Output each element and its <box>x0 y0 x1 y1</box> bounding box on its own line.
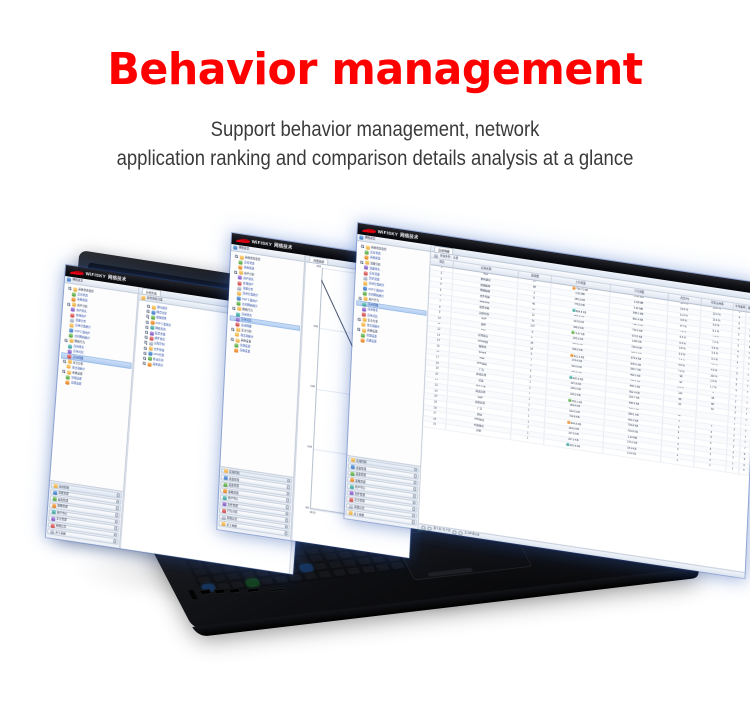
page-icon <box>71 308 75 313</box>
window3-tree[interactable]: 系统状态监控实时状态系统资源流量分析流量排名实时流量历史流量应用分类统计P2P下… <box>347 241 430 466</box>
keyboard-key <box>222 565 236 572</box>
page-icon <box>68 349 72 354</box>
accordion-expand-button[interactable] <box>411 520 415 524</box>
overview-icon <box>233 245 237 250</box>
folder-icon <box>365 260 369 265</box>
tree-expander-icon[interactable] <box>361 245 364 248</box>
app-type-icon <box>567 421 570 424</box>
keyboard-key <box>328 561 342 568</box>
folder-icon <box>147 362 151 367</box>
tree-expander-icon[interactable] <box>143 351 146 354</box>
accordion-expand-button[interactable] <box>116 493 120 497</box>
keyboard-key <box>212 575 226 582</box>
folder-icon <box>150 326 154 331</box>
tree-expander-icon[interactable] <box>147 305 150 308</box>
sd-card-slot <box>268 587 286 592</box>
page-icon <box>364 271 368 276</box>
keyboard-key <box>324 553 338 560</box>
next-page-button[interactable] <box>452 530 456 535</box>
accordion-expand-button[interactable] <box>284 531 288 535</box>
folder-icon <box>73 287 77 292</box>
wifisky-logo-icon <box>70 269 83 275</box>
page-icon <box>71 297 75 302</box>
window3-content: 应用明细 查询条件：全部 排名应用名称连接数上行流量下行流量占比(%)带宽占用率… <box>418 245 750 578</box>
app-type-icon <box>566 443 569 446</box>
window3-accordion[interactable]: 应用控制流量管理设备管理策略管理用户中心文件管理安全管理系统日志关于系统 <box>344 455 420 529</box>
accordion-expand-button[interactable] <box>286 499 290 503</box>
folder-icon <box>148 351 152 356</box>
window1-brand: WiFiSKY <box>85 271 106 279</box>
app-type-icon <box>572 286 575 289</box>
tree-expander-icon[interactable] <box>231 327 234 330</box>
page-icon <box>67 354 71 359</box>
tree-expander-icon[interactable] <box>357 328 360 331</box>
page-icon <box>361 338 365 343</box>
folder-icon <box>149 336 153 341</box>
grid-icon <box>351 458 355 463</box>
tree-expander-icon[interactable] <box>63 359 66 362</box>
tree-expander-icon[interactable] <box>144 336 147 339</box>
folder-icon <box>236 328 240 333</box>
application-detail-table-wrap[interactable]: 排名应用名称连接数上行流量下行流量占比(%)带宽占用率平均速率峰值速率 1网页2… <box>419 258 750 572</box>
window3-nav-header-label: 网络总览 <box>365 237 376 242</box>
folder-icon <box>141 295 145 300</box>
keyboard-key <box>376 564 390 571</box>
folder-icon <box>362 328 366 333</box>
tree-expander-icon[interactable] <box>235 255 238 258</box>
page-icon <box>69 333 73 338</box>
page-icon <box>65 380 69 385</box>
accordion-expand-button[interactable] <box>413 474 417 478</box>
tree-expander-icon[interactable] <box>234 270 237 273</box>
file-icon <box>222 502 226 507</box>
accordion-expand-button[interactable] <box>287 479 291 483</box>
keyboard-key <box>313 563 327 570</box>
log-icon <box>50 523 54 528</box>
window2-brand-suffix: 网络技术 <box>274 242 293 250</box>
folder-icon <box>150 315 154 320</box>
table-cell: 1 <box>726 466 739 474</box>
folder-icon <box>151 310 155 315</box>
app-type-icon <box>568 398 571 401</box>
accordion-expand-button[interactable] <box>114 526 118 530</box>
page-icon <box>362 307 366 312</box>
last-page-button[interactable] <box>458 531 462 536</box>
filter-icon[interactable] <box>434 253 438 258</box>
accordion-expand-button[interactable] <box>284 525 288 529</box>
tree-expander-icon[interactable] <box>67 302 70 305</box>
window3-tree-item-label: 高级设置 <box>366 339 377 344</box>
page-icon <box>238 276 242 281</box>
page-title: Behavior management <box>11 48 739 92</box>
first-page-button[interactable] <box>421 525 425 530</box>
device-icon <box>223 482 227 487</box>
app-type-icon <box>569 376 572 379</box>
grid-icon <box>53 484 57 489</box>
window3-brand-suffix: 网络技术 <box>400 232 419 240</box>
folder-icon <box>148 346 152 351</box>
user-icon <box>222 495 226 500</box>
window3-brand: WiFiSKY <box>378 229 399 237</box>
window3-body: 网络总览 系统状态监控实时状态系统资源流量分析流量排名实时流量历史流量应用分类统… <box>344 234 750 578</box>
accordion-expand-button[interactable] <box>413 487 417 491</box>
folder-icon <box>150 320 154 325</box>
policy-icon <box>52 503 56 508</box>
page-icon <box>239 260 243 265</box>
accordion-expand-button[interactable] <box>114 520 118 524</box>
wifisky-logo-icon <box>237 237 250 243</box>
tree-expander-icon[interactable] <box>64 339 67 342</box>
chart-icon <box>53 490 57 495</box>
page-icon <box>236 312 240 317</box>
keyboard-key <box>189 561 203 568</box>
folder-icon <box>362 317 366 322</box>
hero-stage: WiFiSKY 网络技术 网络总览 系统状态监控实时状态系统资源用户分析用户排名… <box>0 225 750 705</box>
chart-icon <box>350 465 354 470</box>
keyboard-key <box>193 569 207 576</box>
chart-x-tick-label: 08:00 <box>310 512 316 516</box>
user-icon <box>51 510 55 515</box>
tree-expander-icon[interactable] <box>232 307 235 310</box>
wifisky-logo-icon <box>363 227 376 233</box>
tree-expander-icon[interactable] <box>231 338 234 341</box>
accordion-expand-button[interactable] <box>113 533 117 537</box>
keyboard-key <box>208 567 222 574</box>
tree-expander-icon[interactable] <box>143 357 146 360</box>
tree-expander-icon[interactable] <box>360 260 363 263</box>
app-type-icon <box>572 308 575 311</box>
page-icon <box>238 265 242 270</box>
window1-tree[interactable]: 系统状态监控实时状态系统资源用户分析用户排名在线用户流量分布应用分类统计P2P下… <box>50 283 138 491</box>
keyboard-key <box>318 571 332 578</box>
keyboard-key <box>338 552 352 559</box>
accordion-expand-button[interactable] <box>414 468 418 472</box>
keyboard-key <box>371 556 385 563</box>
tree-expander-icon[interactable] <box>359 297 362 300</box>
record-total: 共 128 条记录 <box>464 532 479 537</box>
window2-tree[interactable]: 系统状态监控实时状态系统资源用户分析用户排名在线用户流量分布应用分类统计P2P下… <box>220 251 304 477</box>
keyboard-key <box>361 565 375 572</box>
tree-expander-icon[interactable] <box>146 310 149 313</box>
page-icon <box>361 333 365 338</box>
keyboard-key <box>309 555 323 562</box>
usb-port-2 <box>213 588 227 594</box>
page-icon <box>236 301 240 306</box>
window2-tree-item-label: 高级设置 <box>240 349 251 354</box>
page-icon <box>236 317 240 322</box>
page-icon <box>237 296 241 301</box>
keyboard-key <box>305 547 319 554</box>
keyboard-key <box>347 567 361 574</box>
app-type-icon <box>570 353 573 356</box>
page-subtitle-line-1: Support behavior management, network <box>45 116 705 145</box>
accordion-expand-button[interactable] <box>412 507 416 511</box>
folder-icon <box>67 370 71 375</box>
chart-y-tick-label: 8M <box>295 505 309 510</box>
folder-icon <box>149 331 153 336</box>
page-icon <box>364 266 368 271</box>
page-subtitle: Support behavior management, network app… <box>45 116 705 174</box>
tree-expander-icon[interactable] <box>62 370 65 373</box>
keyboard-key <box>241 571 255 578</box>
accordion-expand-button[interactable] <box>285 505 289 509</box>
page-icon <box>362 312 366 317</box>
tree-expander-icon[interactable] <box>68 287 71 290</box>
chart-icon <box>223 476 227 481</box>
page-icon <box>70 313 74 318</box>
tree-expander-icon[interactable] <box>146 320 149 323</box>
window3-nav-column: 网络总览 系统状态监控实时状态系统资源流量分析流量排名实时流量历史流量应用分类统… <box>344 234 431 529</box>
policy-icon <box>223 489 227 494</box>
page-icon <box>363 276 367 281</box>
info-icon <box>348 511 352 516</box>
hdmi-port <box>246 587 261 593</box>
headline-block: Behavior management Support behavior man… <box>0 0 750 174</box>
accordion-expand-button[interactable] <box>115 513 119 517</box>
page-icon <box>235 322 239 327</box>
folder-icon <box>365 245 369 250</box>
usb-port-3 <box>228 588 242 594</box>
chart-y-tick-label: 32M <box>304 324 318 329</box>
prev-page-button[interactable] <box>427 526 431 531</box>
keyboard-key <box>197 576 211 583</box>
window2-nav-column: 网络总览 系统状态监控实时状态系统资源用户分析用户排名在线用户流量分布应用分类统… <box>217 244 305 540</box>
accordion-expand-button[interactable] <box>412 494 416 498</box>
page-icon <box>237 281 241 286</box>
accordion-expand-button[interactable] <box>286 485 290 489</box>
page-icon <box>362 302 366 307</box>
window1-tree-item-label: 高级设置 <box>71 381 82 386</box>
folder-icon <box>72 302 76 307</box>
folder-icon <box>238 270 242 275</box>
accordion-expand-button[interactable] <box>116 500 120 504</box>
window1-nav-header-label: 网络总览 <box>72 279 83 284</box>
page-icon <box>363 291 367 296</box>
page-icon <box>234 348 238 353</box>
page-icon <box>68 344 72 349</box>
page-icon <box>66 375 70 380</box>
folder-icon <box>235 338 239 343</box>
accordion-expand-button[interactable] <box>412 501 416 505</box>
tree-expander-icon[interactable] <box>145 325 148 328</box>
policy-icon <box>350 478 354 483</box>
folder-icon <box>151 305 155 310</box>
page-icon <box>364 255 368 260</box>
usb-port-1 <box>199 589 213 595</box>
folder-icon <box>149 341 153 346</box>
keyboard-key <box>390 562 404 569</box>
chart-y-tick-label: 16M <box>298 445 312 450</box>
window2-nav-header-label: 网络总览 <box>239 247 250 252</box>
page-icon <box>365 250 369 255</box>
tree-expander-icon[interactable] <box>144 341 147 344</box>
page-icon <box>237 286 241 291</box>
accordion-expand-button[interactable] <box>285 518 289 522</box>
chart-y-tick-label: 24M <box>301 384 315 389</box>
accordion-expand-button[interactable] <box>285 512 289 516</box>
keyboard-key <box>299 564 313 571</box>
window2-brand: WiFiSKY <box>252 239 273 247</box>
page-icon <box>237 291 241 296</box>
accordion-expand-button[interactable] <box>286 492 290 496</box>
accordion-expand-button[interactable] <box>113 539 117 543</box>
keyboard-key <box>320 545 334 552</box>
window1-accordion[interactable]: 应用控制流量管理设备管理策略管理用户中心安全管理系统日志关于系统 <box>46 480 123 548</box>
page-icon <box>69 323 73 328</box>
shield-icon <box>51 517 55 522</box>
window1-protocol-item-label: 其他协议 <box>153 363 164 368</box>
keyboard-key <box>295 557 309 564</box>
app-type-icon <box>572 331 575 334</box>
tree-expander-icon[interactable] <box>146 315 149 318</box>
app-window-application-detail[interactable]: WiFiSKY 网络技术 网络总览 系统状态监控实时状态系统资源流量分析流量排名… <box>344 223 750 578</box>
page-icon <box>363 281 367 286</box>
user-icon <box>349 484 353 489</box>
log-icon <box>221 515 225 520</box>
device-icon <box>52 497 56 502</box>
tree-expander-icon[interactable] <box>143 362 146 365</box>
page-icon <box>70 318 74 323</box>
window2-accordion[interactable]: 应用控制流量管理设备管理策略管理用户中心文件管理行为分析系统日志关于系统 <box>217 466 293 540</box>
accordion-expand-button[interactable] <box>411 514 415 518</box>
tree-expander-icon[interactable] <box>145 331 148 334</box>
keyboard-key <box>332 569 346 576</box>
keyboard-key <box>226 573 240 580</box>
info-icon <box>221 522 225 527</box>
page-subtitle-line-2: application ranking and comparison detai… <box>45 145 705 174</box>
shield-icon <box>222 509 226 514</box>
accordion-expand-button[interactable] <box>413 481 417 485</box>
overview-icon <box>67 277 71 282</box>
info-icon <box>50 530 54 535</box>
folder-icon <box>67 360 71 365</box>
keyboard-key <box>342 559 356 566</box>
tree-expander-icon[interactable] <box>358 317 361 320</box>
folder-icon <box>239 255 243 260</box>
shield-icon <box>349 498 353 503</box>
page-icon <box>72 292 76 297</box>
table-cell: 6 <box>739 468 749 475</box>
accordion-expand-button[interactable] <box>115 507 119 511</box>
overview-icon <box>359 235 363 240</box>
log-icon <box>348 504 352 509</box>
device-icon <box>350 471 354 476</box>
chart-y-tick-label: 40M <box>307 264 321 269</box>
window1-brand-suffix: 网络技术 <box>108 274 127 282</box>
page-icon <box>363 286 367 291</box>
tree-expander-icon[interactable] <box>144 346 147 349</box>
page-icon <box>234 343 238 348</box>
page-icon <box>69 328 73 333</box>
grid-icon <box>224 469 228 474</box>
keyboard-key <box>255 570 269 577</box>
keyboard-key <box>357 558 371 565</box>
file-icon <box>349 491 353 496</box>
